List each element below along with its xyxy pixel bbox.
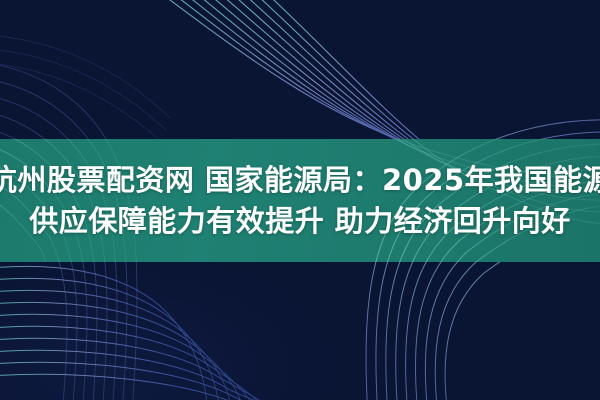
headline-line-1: 杭州股票配资网 国家能源局：2025年我国能源: [0, 164, 600, 196]
headline-text-group: 杭州股票配资网 国家能源局：2025年我国能源 供应保障能力有效提升 助力经济回…: [0, 139, 600, 262]
news-banner: 杭州股票配资网 国家能源局：2025年我国能源 供应保障能力有效提升 助力经济回…: [0, 0, 600, 400]
headline-line-2: 供应保障能力有效提升 助力经济回升向好: [29, 205, 571, 237]
